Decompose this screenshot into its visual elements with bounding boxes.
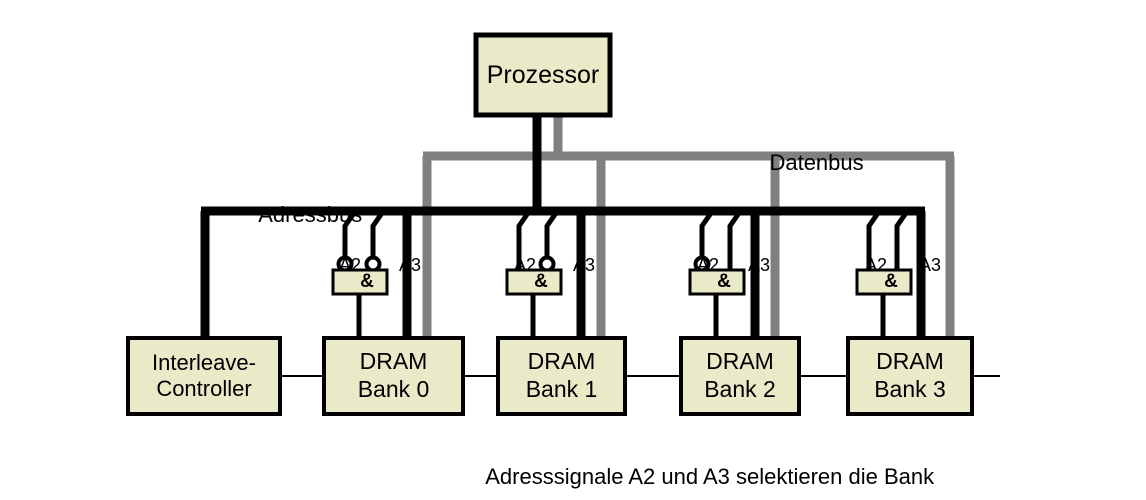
data-bus-label: Datenbus — [745, 124, 864, 202]
decoder-symbol-bank0: & — [340, 269, 394, 295]
decoder-symbol-bank3: & — [864, 269, 918, 295]
caption: Adresssignale A2 und A3 selektieren die … — [462, 438, 934, 500]
processor-label: Prozessor — [476, 35, 610, 115]
dram-bank-0-line1: DRAM — [360, 348, 428, 376]
dram-bank-3-line1: DRAM — [876, 348, 944, 376]
signal-label-a3-bank1-text: A3 — [573, 255, 595, 275]
dram-bank-2-label: DRAM Bank 2 — [681, 338, 799, 414]
decoder-symbol-bank3-text: & — [884, 271, 898, 294]
decoder-symbol-bank2: & — [697, 269, 751, 295]
caption-text: Adresssignale A2 und A3 selektieren die … — [485, 464, 934, 489]
interleave-controller-line1: Interleave- — [152, 350, 256, 376]
dram-bank-2-line1: DRAM — [706, 348, 774, 376]
dram-bank-1-label: DRAM Bank 1 — [498, 338, 625, 414]
dram-bank-3-line2: Bank 3 — [874, 376, 946, 404]
dram-bank-0-line2: Bank 0 — [358, 376, 430, 404]
address-bus-label-text: Adressbus — [258, 202, 362, 227]
dram-bank-0-label: DRAM Bank 0 — [324, 338, 463, 414]
decoder-symbol-bank0-text: & — [360, 271, 374, 294]
data-bus-label-text: Datenbus — [769, 150, 863, 175]
dram-bank-1-line2: Bank 1 — [526, 376, 598, 404]
decoder-symbol-bank1-text: & — [534, 271, 548, 294]
data-bus-group — [423, 115, 954, 338]
signal-label-a3-bank3-text: A3 — [919, 255, 941, 275]
decoder-symbol-bank2-text: & — [717, 271, 731, 294]
signal-label-a3-bank2-text: A3 — [748, 255, 770, 275]
dram-bank-3-label: DRAM Bank 3 — [848, 338, 972, 414]
dram-bank-1-line1: DRAM — [528, 348, 596, 376]
decoder-symbol-bank1: & — [514, 269, 568, 295]
signal-label-a3-bank0-text: A3 — [399, 255, 421, 275]
interleave-controller-line2: Controller — [156, 376, 251, 402]
interleave-controller-label: Interleave- Controller — [128, 338, 280, 414]
diagram-canvas: Prozessor Adressbus Datenbus A2 A3 A2 A3… — [0, 0, 1146, 500]
processor-label-text: Prozessor — [487, 60, 600, 90]
dram-bank-2-line2: Bank 2 — [704, 376, 776, 404]
